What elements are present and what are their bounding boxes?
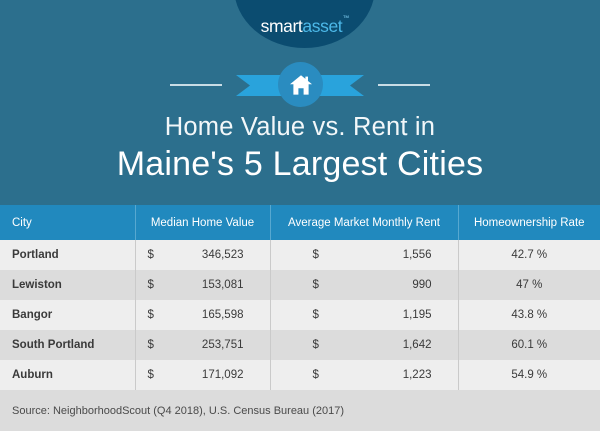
table-row: South Portland $ 253,751 $ 1,642 60.1 % [0,330,600,360]
table-row: Bangor $ 165,598 $ 1,195 43.8 % [0,300,600,330]
value-amount: 1,223 [335,369,446,381]
currency-symbol: $ [148,249,170,261]
ribbon-medallion [278,62,323,107]
cell-median-home-value: $ 165,598 [135,300,270,330]
cell-homeownership-rate: 60.1 % [458,330,600,360]
cell-homeownership-rate: 43.8 % [458,300,600,330]
column-header-median-home-value: Median Home Value [135,205,270,240]
value-amount: 165,598 [170,309,258,321]
cell-monthly-rent: $ 990 [270,270,458,300]
table-row: Portland $ 346,523 $ 1,556 42.7 % [0,240,600,270]
currency-symbol: $ [313,369,335,381]
cell-homeownership-rate: 54.9 % [458,360,600,390]
brand-wordmark: smartasset™ [261,18,349,36]
cell-city: Lewiston [0,270,135,300]
brand-name-part1: smart [261,16,303,36]
currency-symbol: $ [148,309,170,321]
currency-symbol: $ [148,279,170,291]
cell-homeownership-rate: 47 % [458,270,600,300]
currency-symbol: $ [148,369,170,381]
currency-symbol: $ [313,339,335,351]
value-amount: 253,751 [170,339,258,351]
currency-symbol: $ [313,249,335,261]
currency-symbol: $ [148,339,170,351]
currency-symbol: $ [313,309,335,321]
value-amount: 171,092 [170,369,258,381]
source-bar: Source: NeighborhoodScout (Q4 2018), U.S… [0,390,600,431]
table-row: Lewiston $ 153,081 $ 990 47 % [0,270,600,300]
infographic-card: smartasset™ Home Value vs. Rent in Maine… [0,0,600,431]
ribbon-divider [0,62,600,108]
cell-median-home-value: $ 171,092 [135,360,270,390]
table-body: Portland $ 346,523 $ 1,556 42.7 % Lewist… [0,240,600,390]
value-amount: 990 [335,279,446,291]
cell-homeownership-rate: 42.7 % [458,240,600,270]
column-header-homeownership-rate: Homeownership Rate [458,205,600,240]
page-title: Home Value vs. Rent in Maine's 5 Largest… [0,112,600,186]
title-line-2: Maine's 5 Largest Cities [0,144,600,185]
cell-monthly-rent: $ 1,642 [270,330,458,360]
cell-median-home-value: $ 346,523 [135,240,270,270]
value-amount: 1,556 [335,249,446,261]
cell-median-home-value: $ 253,751 [135,330,270,360]
value-amount: 1,642 [335,339,446,351]
currency-symbol: $ [313,279,335,291]
divider-rule-right [378,84,430,86]
table-header: City Median Home Value Average Market Mo… [0,205,600,240]
value-amount: 153,081 [170,279,258,291]
divider-rule-left [170,84,222,86]
title-line-1: Home Value vs. Rent in [0,112,600,143]
home-icon [289,74,313,96]
cell-median-home-value: $ 153,081 [135,270,270,300]
table-header-row: City Median Home Value Average Market Mo… [0,205,600,240]
cell-monthly-rent: $ 1,195 [270,300,458,330]
table-row: Auburn $ 171,092 $ 1,223 54.9 % [0,360,600,390]
data-table: City Median Home Value Average Market Mo… [0,205,600,390]
brand-badge: smartasset™ [234,0,375,48]
source-text: Source: NeighborhoodScout (Q4 2018), U.S… [12,405,344,417]
cell-city: Auburn [0,360,135,390]
value-amount: 346,523 [170,249,258,261]
ribbon-graphic [236,62,364,108]
column-header-city: City [0,205,135,240]
cell-city: Portland [0,240,135,270]
cell-monthly-rent: $ 1,556 [270,240,458,270]
cell-monthly-rent: $ 1,223 [270,360,458,390]
column-header-average-monthly-rent: Average Market Monthly Rent [270,205,458,240]
cell-city: South Portland [0,330,135,360]
trademark-symbol: ™ [343,15,349,22]
brand-name-part2: asset [302,16,342,36]
value-amount: 1,195 [335,309,446,321]
cell-city: Bangor [0,300,135,330]
